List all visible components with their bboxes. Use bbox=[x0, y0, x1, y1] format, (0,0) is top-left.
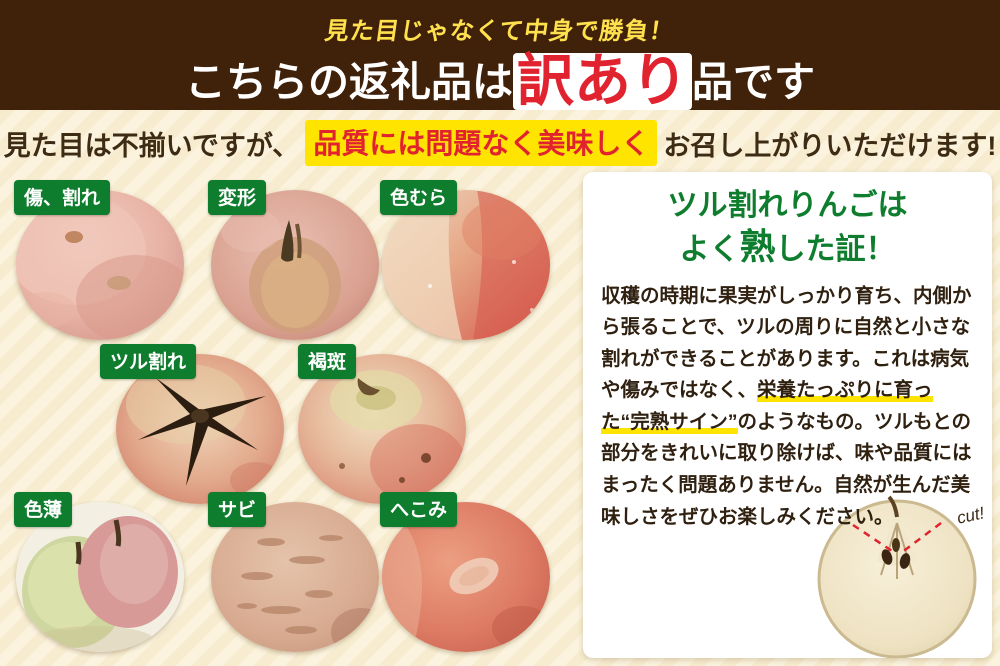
tag-tsuruware: ツル割れ bbox=[100, 344, 196, 379]
header-banner: 見た目じゃなくて中身で勝負！ こちらの返礼品は訳あり品です bbox=[0, 0, 1000, 110]
panel-title-line2-a: よく bbox=[679, 233, 739, 266]
tag-irousu: 色薄 bbox=[14, 492, 72, 527]
tag-kappan: 褐斑 bbox=[298, 344, 356, 379]
panel-title-line2-b: した証！ bbox=[776, 233, 896, 266]
defect-photo-grid: 傷、割れ 変形 bbox=[8, 172, 580, 658]
header-title: こちらの返礼品は訳あり品です bbox=[0, 48, 1000, 110]
subheadline-highlight: 品質には問題なく美味しく bbox=[305, 120, 657, 166]
tag-kizu-ware: 傷、割れ bbox=[14, 180, 110, 215]
header-title-prefix: こちらの返礼品は bbox=[185, 59, 513, 105]
subheadline: 見た目は不揃いですが、 品質には問題なく美味しく お召し上がりいただけます! bbox=[0, 116, 1000, 170]
tag-henkei: 変形 bbox=[208, 180, 266, 215]
info-panel: cut! ツル割れりんごは よく熟した証！ 収穫の時期に果実がしっかり育ち、内側… bbox=[583, 172, 992, 658]
tag-hekomi: へこみ bbox=[380, 492, 457, 527]
subheadline-after: お召し上がりいただけます! bbox=[663, 124, 996, 163]
tag-iromura: 色むら bbox=[380, 180, 457, 215]
header-title-highlight: 訳あり bbox=[513, 53, 692, 110]
panel-body-underline2: “完熟サイン” bbox=[621, 411, 738, 434]
header-title-suffix: 品です bbox=[692, 59, 815, 105]
panel-title: ツル割れりんごは よく熟した証！ bbox=[583, 188, 992, 269]
panel-title-line1: ツル割れりんごは bbox=[583, 188, 992, 225]
panel-body-text: 収穫の時期に果実がしっかり育ち、内側から張ることで、ツルの周りに自然と小さな割れ… bbox=[601, 281, 976, 534]
tag-sabi: サビ bbox=[208, 492, 266, 527]
subheadline-before: 見た目は不揃いですが、 bbox=[4, 124, 300, 163]
panel-title-line2: よく熟した証！ bbox=[583, 225, 992, 269]
header-subtitle: 見た目じゃなくて中身で勝負！ bbox=[0, 11, 1000, 46]
panel-title-emphasis: 熟 bbox=[739, 226, 775, 267]
